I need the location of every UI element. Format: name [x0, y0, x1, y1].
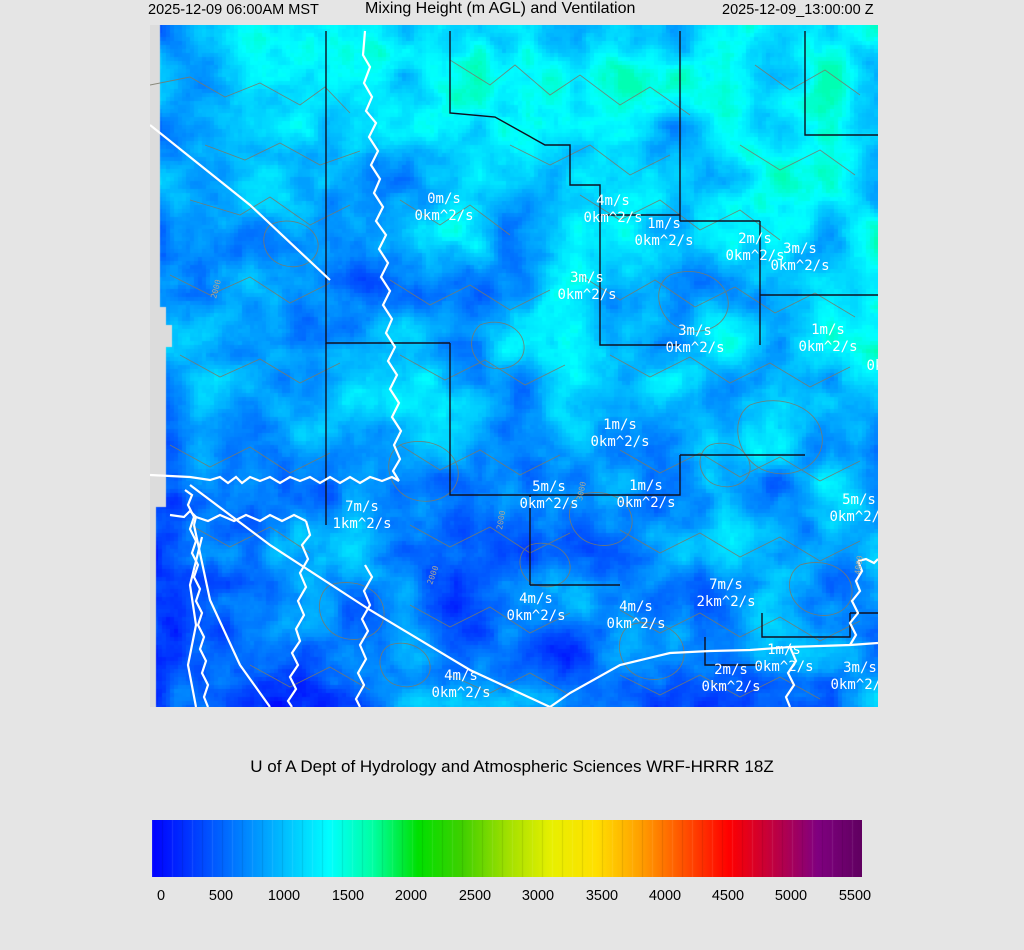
wind-speed-value: 2m/s	[866, 341, 878, 358]
ventilation-value: 0km^2/s	[506, 608, 565, 625]
colorbar-tick: 1000	[268, 888, 300, 904]
wind-speed-value: 1m/s	[590, 417, 649, 434]
ventilation-label: 0m/s0km^2/s	[414, 191, 473, 225]
ventilation-value: 0km^2/s	[616, 495, 675, 512]
ventilation-label: 1m/s0km^2/s	[634, 216, 693, 250]
ventilation-value: 0km^2/s	[634, 233, 693, 250]
ventilation-label: 3m/s0km^2/s	[557, 270, 616, 304]
wind-speed-value: 3m/s	[830, 660, 878, 677]
ventilation-label: 1m/s0km^2/s	[798, 322, 857, 356]
wind-speed-value: 3m/s	[770, 241, 829, 258]
ventilation-value: 0km^2/s	[830, 677, 878, 694]
state-lines-dark	[326, 31, 878, 665]
wind-speed-value: 4m/s	[583, 193, 642, 210]
header-utc-time: 2025-12-09_13:00:00 Z	[722, 2, 874, 18]
ventilation-label: 1m/s0km^2/s	[754, 642, 813, 676]
svg-text:2000: 2000	[425, 564, 440, 585]
colorbar-tick: 2000	[395, 888, 427, 904]
ventilation-label: 7m/s2km^2/s	[696, 577, 755, 611]
colorbar-tick: 2500	[459, 888, 491, 904]
wind-speed-value: 1m/s	[634, 216, 693, 233]
ventilation-label: 3m/s0km^2/s	[665, 323, 724, 357]
wind-speed-value: 4m/s	[506, 591, 565, 608]
ventilation-label: 3m/s0km^2/s	[830, 660, 878, 694]
colorbar-tick: 1500	[332, 888, 364, 904]
source-caption: U of A Dept of Hydrology and Atmospheric…	[0, 757, 1024, 777]
colorbar-tick: 4500	[712, 888, 744, 904]
colorbar-gradient	[152, 820, 862, 877]
ventilation-value: 0km^2/s	[829, 509, 878, 526]
wind-speed-value: 7m/s	[696, 577, 755, 594]
page-title: Mixing Height (m AGL) and Ventilation	[365, 0, 635, 18]
svg-text:2000: 2000	[495, 510, 507, 531]
ventilation-label: 4m/s0km^2/s	[506, 591, 565, 625]
ventilation-value: 0km^2/s	[754, 659, 813, 676]
colorbar-tick: 3000	[522, 888, 554, 904]
ventilation-label: 3m/s0km^2/s	[770, 241, 829, 275]
header-local-time: 2025-12-09 06:00AM MST	[148, 2, 319, 18]
colorbar-tick: 3500	[586, 888, 618, 904]
colorbar-tick: 5000	[775, 888, 807, 904]
ventilation-value: 0km^2/s	[557, 287, 616, 304]
mixing-height-map[interactable]: 2000 2000 2000 3000 4000 0m/s0km^2/s4m/s…	[150, 25, 878, 707]
ventilation-value: 0km^2/s	[414, 208, 473, 225]
header-bar: 2025-12-09 06:00AM MST Mixing Height (m …	[0, 0, 1024, 22]
ventilation-value: 0km^2/s	[606, 616, 665, 633]
ventilation-label: 5m/s0km^2/s	[829, 492, 878, 526]
ventilation-value: 0km^2/s	[665, 340, 724, 357]
ventilation-value: 0km^2/s	[431, 685, 490, 702]
wind-speed-value: 1m/s	[798, 322, 857, 339]
wind-speed-value: 1m/s	[616, 478, 675, 495]
ventilation-value: 2km^2/s	[696, 594, 755, 611]
ventilation-value: 0km^2/s	[798, 339, 857, 356]
colorbar-tick: 5500	[839, 888, 871, 904]
colorbar	[152, 820, 862, 877]
wind-speed-value: 5m/s	[829, 492, 878, 509]
ventilation-value: 1km^2/s	[332, 516, 391, 533]
ventilation-label: 2m/s0km^2/s	[701, 662, 760, 696]
ventilation-label: 1m/s0km^2/s	[616, 478, 675, 512]
ventilation-label: 2m/s0km^2/s	[866, 341, 878, 375]
wind-speed-value: 4m/s	[431, 668, 490, 685]
ventilation-value: 0km^2/s	[590, 434, 649, 451]
svg-text:4000: 4000	[853, 555, 865, 576]
wind-speed-value: 1m/s	[754, 642, 813, 659]
ventilation-value: 0km^2/s	[701, 679, 760, 696]
svg-text:2000: 2000	[209, 278, 223, 299]
wind-speed-value: 2m/s	[701, 662, 760, 679]
ventilation-label: 4m/s0km^2/s	[431, 668, 490, 702]
wind-speed-value: 4m/s	[606, 599, 665, 616]
wind-speed-value: 5m/s	[519, 479, 578, 496]
ventilation-label: 4m/s0km^2/s	[606, 599, 665, 633]
wind-speed-value: 7m/s	[332, 499, 391, 516]
colorbar-tick-labels: 0500100015002000250030003500400045005000…	[0, 888, 1024, 914]
ventilation-value: 0km^2/s	[519, 496, 578, 513]
ventilation-value: 0km^2/s	[770, 258, 829, 275]
colorbar-tick: 0	[157, 888, 165, 904]
wind-speed-value: 3m/s	[557, 270, 616, 287]
wind-speed-value: 0m/s	[414, 191, 473, 208]
ventilation-value: 0km^2/s	[866, 358, 878, 375]
ventilation-label: 1m/s0km^2/s	[590, 417, 649, 451]
ventilation-label: 5m/s0km^2/s	[519, 479, 578, 513]
colorbar-tick: 4000	[649, 888, 681, 904]
colorbar-tick: 500	[209, 888, 233, 904]
ventilation-label: 7m/s1km^2/s	[332, 499, 391, 533]
wind-speed-value: 3m/s	[665, 323, 724, 340]
